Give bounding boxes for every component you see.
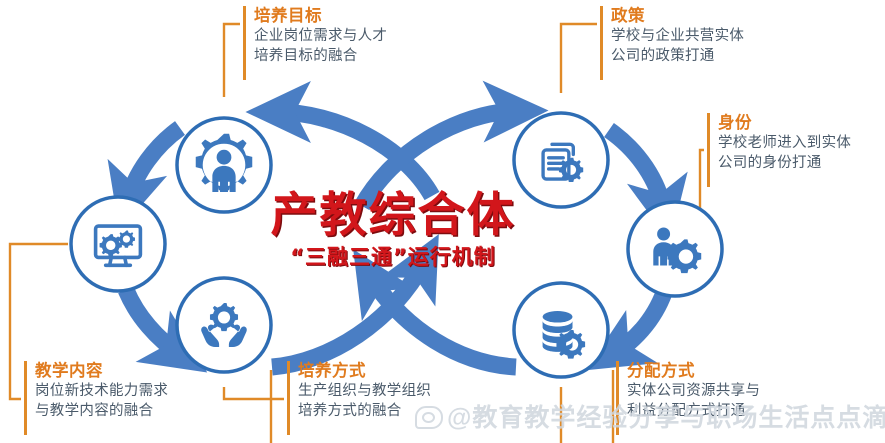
diagram-canvas: 产教综合体 “三融三通”运行机制 培养目标 企业岗位需求与人才 培养目标的融合 … [0, 0, 885, 443]
callout-title: 分配方式 [627, 361, 760, 381]
callout-line-2: 培养目标的融合 [254, 46, 387, 66]
callout-zhengce: 政策 学校与企业共营实体 公司的政策打通 [600, 6, 744, 80]
watermark-text: @教育教学经验分享与职场生活点点滴滴 [447, 404, 885, 432]
callout-title: 身份 [718, 113, 851, 133]
arrow-right-left-to-top [362, 111, 517, 206]
arrow-right-bottom-to-left [370, 276, 516, 367]
callout-shenfen: 身份 学校老师进入到实体 公司的身份打通 [707, 113, 851, 187]
arrow-right-top-to-right [609, 130, 664, 211]
connector-peiyangfangshi [224, 387, 284, 399]
callout-peiyangmubiao: 培养目标 企业岗位需求与人才 培养目标的融合 [243, 6, 387, 80]
callout-line-2: 培养方式的融合 [298, 401, 431, 421]
callout-line-2: 公司的身份打通 [718, 153, 851, 173]
callout-peiyangfangshi: 培养方式 生产组织与教学组织 培养方式的融合 [287, 361, 431, 435]
hands-holding-gear-icon [201, 303, 247, 347]
center-title-group: 产教综合体 “三融三通”运行机制 [243, 189, 543, 270]
callout-accent-bar [600, 6, 603, 80]
node-person-beside-gear [628, 202, 722, 296]
watermark: @教育教学经验分享与职场生活点点滴滴 [415, 398, 885, 434]
callout-title: 培养目标 [254, 6, 387, 26]
connector-peiyangmubiao [224, 24, 240, 97]
callout-line-1: 学校与企业共营实体 [611, 26, 744, 46]
callout-jiaoxueneirong: 教学内容 岗位新技术能力需求 与教学内容的融合 [24, 361, 168, 435]
node-person-gear [177, 118, 271, 212]
callout-title: 培养方式 [298, 361, 431, 381]
callout-title: 教学内容 [35, 361, 168, 381]
node-monitor-gear [71, 197, 165, 291]
page-title: 产教综合体 [243, 189, 543, 243]
arrow-left-right-to-top [277, 112, 432, 196]
page-subtitle: “三融三通”运行机制 [243, 244, 543, 270]
monitor-gears-icon [96, 226, 141, 265]
person-beside-gear-icon [653, 228, 701, 274]
callout-title: 政策 [611, 6, 744, 26]
arrow-left-top-to-left [128, 128, 180, 200]
callout-line-2: 公司的政策打通 [611, 46, 744, 66]
callout-accent-bar [243, 6, 246, 80]
callout-accent-bar [287, 361, 290, 435]
callout-accent-bar [707, 113, 710, 187]
node-documents-gear [514, 113, 608, 207]
node-hands-gear [177, 278, 271, 372]
weibo-logo-icon [415, 406, 443, 429]
callout-line-1: 企业岗位需求与人才 [254, 26, 387, 46]
callout-line-1: 学校老师进入到实体 [718, 133, 851, 153]
callout-line-1: 生产组织与教学组织 [298, 381, 431, 401]
arrow-right-right-to-bottom [613, 287, 666, 354]
callout-line-2: 与教学内容的融合 [35, 401, 168, 421]
arrow-left-bottom-to-right [272, 262, 424, 367]
database-gear-icon [543, 311, 586, 359]
person-in-gear-icon [196, 134, 253, 192]
connector-zhengce [561, 24, 597, 93]
documents-gear-icon [543, 144, 573, 179]
callout-accent-bar [24, 361, 27, 435]
connector-shenfen [700, 150, 704, 243]
node-database-gear [514, 283, 608, 377]
arrow-left-left-to-bottom [126, 290, 181, 355]
callout-line-1: 岗位新技术能力需求 [35, 381, 168, 401]
